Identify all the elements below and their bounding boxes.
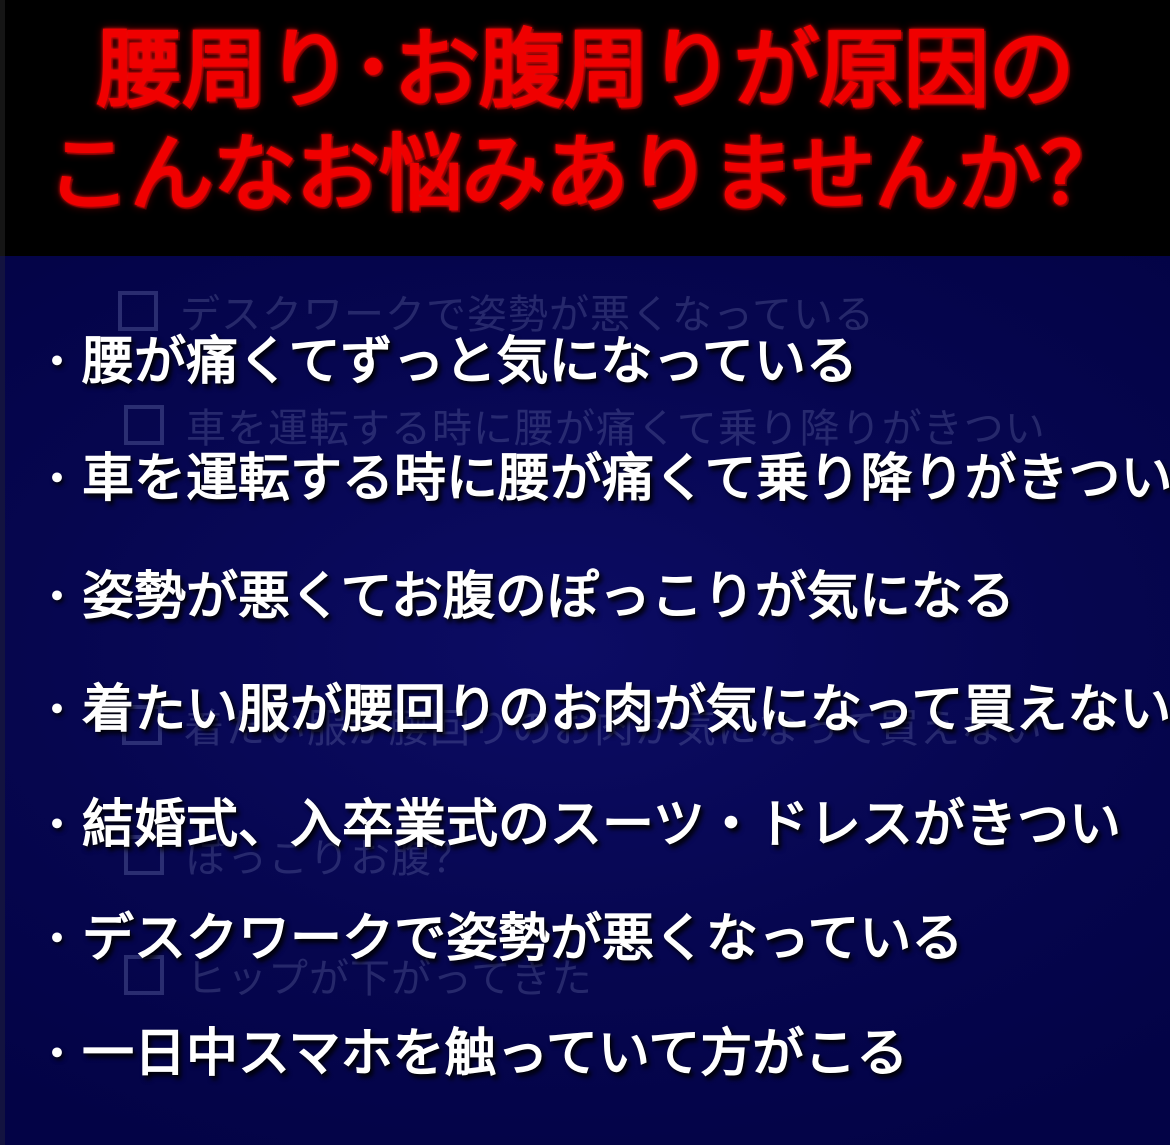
list-item-label: 車を運転する時に腰が痛くて乗り降りがきつい <box>82 453 1170 505</box>
bullet-icon: ・ <box>34 802 80 848</box>
header-text-block: 腰周り･お腹周りが原因の こんなお悩みありませんか？ <box>0 18 1170 226</box>
list-item-label: デスクワークで姿勢が悪くなっている <box>82 913 963 965</box>
bullet-icon: ・ <box>34 339 80 385</box>
checklist-panel: デスクワークで姿勢が悪くなっている 車を運転する時に腰が痛くて乗り降りがきつい … <box>0 256 1170 1145</box>
list-item: ・ デスクワークで姿勢が悪くなっている <box>34 913 963 965</box>
list-item-label: 姿勢が悪くてお腹のぽっこりが気になる <box>82 571 1015 623</box>
header-line-1: 腰周り･お腹周りが原因の <box>0 18 1170 122</box>
list-item: ・ 姿勢が悪くてお腹のぽっこりが気になる <box>34 571 1015 623</box>
list-item: ・ 結婚式、入卒業式のスーツ・ドレスがきつい <box>34 799 1121 851</box>
list-item-label: 結婚式、入卒業式のスーツ・ドレスがきつい <box>82 799 1121 851</box>
list-item: ・ 車を運転する時に腰が痛くて乗り降りがきつい <box>34 453 1170 505</box>
bullet-icon: ・ <box>34 1031 80 1077</box>
list-item-label: 一日中スマホを触っていて方がこる <box>82 1028 908 1080</box>
bullet-icon: ・ <box>34 456 80 502</box>
poster-root: 腰周り･お腹周りが原因の こんなお悩みありませんか？ デスクワークで姿勢が悪くな… <box>0 0 1170 1145</box>
list-item-label: 着たい服が腰回りのお肉が気になって買えない <box>82 684 1170 736</box>
list-item: ・ 腰が痛くてずっと気になっている <box>34 336 858 388</box>
checklist-items: ・ 腰が痛くてずっと気になっている ・ 車を運転する時に腰が痛くて乗り降りがきつ… <box>0 256 1170 1145</box>
bullet-icon: ・ <box>34 687 80 733</box>
bullet-icon: ・ <box>34 916 80 962</box>
header-banner: 腰周り･お腹周りが原因の こんなお悩みありませんか？ <box>0 0 1170 256</box>
list-item: ・ 一日中スマホを触っていて方がこる <box>34 1028 908 1080</box>
header-line-2: こんなお悩みありませんか？ <box>0 122 1170 226</box>
list-item: ・ 着たい服が腰回りのお肉が気になって買えない <box>34 684 1170 736</box>
list-item-label: 腰が痛くてずっと気になっている <box>82 336 858 388</box>
bullet-icon: ・ <box>34 574 80 620</box>
